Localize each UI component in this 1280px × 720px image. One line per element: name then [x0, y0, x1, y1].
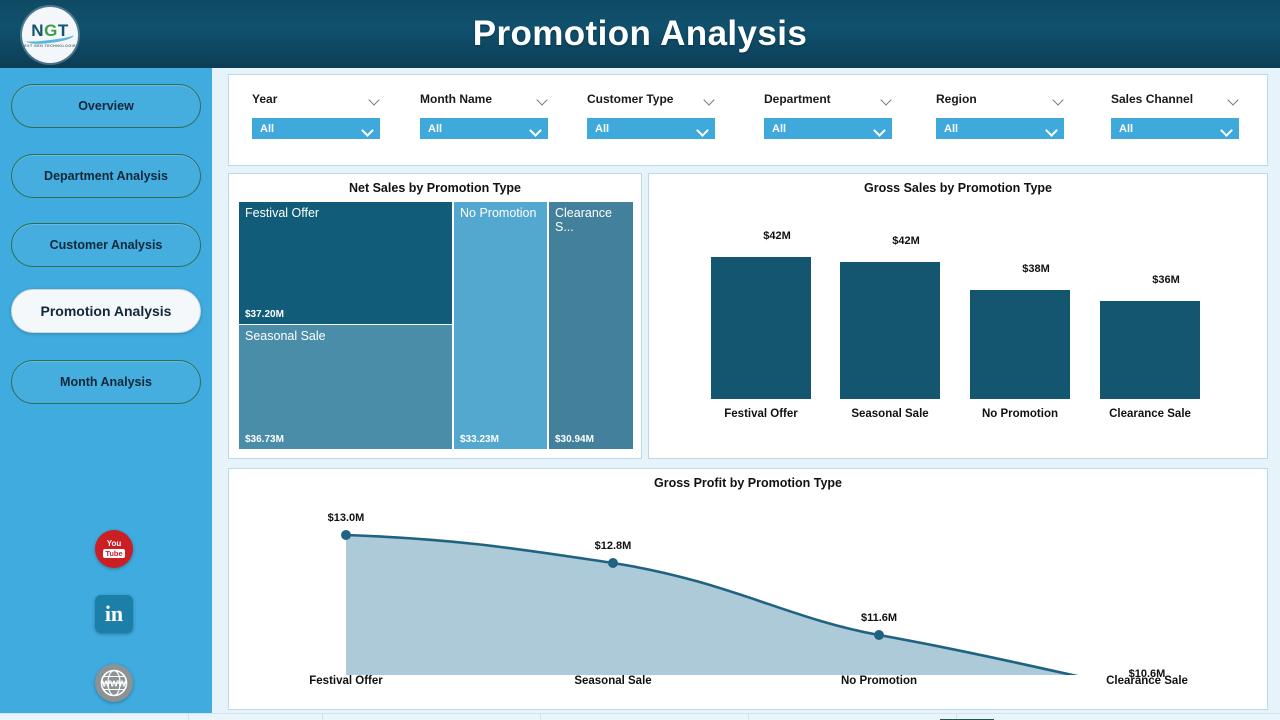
gross-sales-bar-card: Gross Sales by Promotion Type $42M $42M … [648, 173, 1268, 459]
area-category-label: Festival Offer [271, 675, 421, 687]
sidebar-item-overview[interactable]: Overview [11, 84, 201, 128]
treemap-tile-label: Seasonal Sale [245, 329, 326, 343]
sidebar: Overview Department Analysis Customer An… [0, 68, 212, 713]
slicer-department-header: Department [764, 89, 892, 109]
slicer-department[interactable]: Department All [764, 89, 892, 139]
sidebar-item-month-analysis[interactable]: Month Analysis [11, 360, 201, 404]
slicer-sales-channel-header: Sales Channel [1111, 89, 1239, 109]
tab-separator [748, 714, 749, 720]
chevron-down-icon[interactable] [1053, 96, 1064, 102]
bar-value-label: $42M [831, 235, 981, 247]
treemap-tile-value: $36.73M [245, 434, 284, 445]
slicer-year-dropdown[interactable]: All [252, 118, 380, 139]
chevron-down-icon [362, 126, 373, 132]
tab-separator [540, 714, 541, 720]
page-title: Promotion Analysis [0, 0, 1280, 68]
sidebar-item-department-analysis[interactable]: Department Analysis [11, 154, 201, 198]
bar-seasonal-sale[interactable] [840, 262, 940, 399]
slicer-department-dropdown[interactable]: All [764, 118, 892, 139]
slicer-month-name[interactable]: Month Name All [420, 89, 548, 139]
area-point-seasonal-sale[interactable] [608, 558, 618, 568]
website-globe-icon[interactable]: WWW [95, 664, 133, 702]
bar-clearance-sale[interactable] [1100, 301, 1200, 399]
treemap-tile-no-promotion[interactable]: No Promotion $33.23M [454, 202, 547, 449]
area-fill [346, 535, 1147, 675]
slicer-region-header: Region [936, 89, 1064, 109]
slicer-year-value: All [260, 123, 274, 135]
slicer-sales-channel[interactable]: Sales Channel All [1111, 89, 1239, 139]
slicer-region-value: All [944, 123, 958, 135]
bar-category-label: Seasonal Sale [815, 408, 965, 420]
slicer-month-name-value: All [428, 123, 442, 135]
treemap-plot: Festival Offer $37.20M Seasonal Sale $36… [239, 202, 633, 449]
tab-separator [188, 714, 189, 720]
treemap-tile-clearance-sale[interactable]: Clearance S... $30.94M [549, 202, 633, 449]
slicer-region-label: Region [936, 92, 977, 106]
dashboard-page: NGT NEXT GEN TECHNOLOGIES Promotion Anal… [0, 0, 1280, 720]
area-point-no-promotion[interactable] [874, 630, 884, 640]
youtube-icon-line1: You [107, 540, 122, 548]
chevron-down-icon [1221, 126, 1232, 132]
gross-profit-area-card: Gross Profit by Promotion Type $13.0M $1… [228, 468, 1268, 710]
area-category-label: No Promotion [804, 675, 954, 687]
bar-value-label: $36M [1091, 274, 1241, 286]
slicer-panel: Year All Month Name All Customer Type [228, 74, 1268, 166]
slicer-region[interactable]: Region All [936, 89, 1064, 139]
linkedin-icon[interactable]: in [95, 595, 133, 633]
treemap-tile-label: Festival Offer [245, 206, 319, 220]
bar-value-label: $38M [961, 263, 1111, 275]
chevron-down-icon[interactable] [1228, 96, 1239, 102]
slicer-customer-type-dropdown[interactable]: All [587, 118, 715, 139]
slicer-sales-channel-label: Sales Channel [1111, 92, 1193, 106]
bar-category-label: Clearance Sale [1075, 408, 1225, 420]
slicer-month-name-label: Month Name [420, 92, 492, 106]
treemap-tile-label: Clearance S... [555, 206, 633, 234]
treemap-tile-seasonal-sale[interactable]: Seasonal Sale $36.73M [239, 325, 452, 449]
logo-tagline: NEXT GEN TECHNOLOGIES [22, 44, 78, 48]
chevron-down-icon[interactable] [537, 96, 548, 102]
slicer-customer-type[interactable]: Customer Type All [587, 89, 715, 139]
sidebar-item-promotion-analysis[interactable]: Promotion Analysis [11, 289, 201, 333]
area-category-label: Seasonal Sale [538, 675, 688, 687]
bar-category-label: Festival Offer [686, 408, 836, 420]
area-value-label: $12.8M [538, 540, 688, 552]
youtube-icon-line2: Tube [103, 549, 124, 558]
sidebar-item-label: Customer Analysis [50, 238, 163, 252]
slicer-department-value: All [772, 123, 786, 135]
gross-sales-bar-title: Gross Sales by Promotion Type [649, 174, 1267, 195]
linkedin-icon-label: in [105, 601, 123, 627]
area-value-label: $13.0M [271, 512, 421, 524]
chevron-down-icon [697, 126, 708, 132]
logo-text: NGT [31, 22, 68, 39]
sidebar-item-label: Department Analysis [44, 169, 168, 183]
slicer-month-name-header: Month Name [420, 89, 548, 109]
treemap-tile-value: $37.20M [245, 309, 284, 320]
treemap-tile-value: $33.23M [460, 434, 499, 445]
chevron-down-icon[interactable] [369, 96, 380, 102]
globe-icon-glyph: WWW [99, 668, 129, 698]
sidebar-item-customer-analysis[interactable]: Customer Analysis [11, 223, 201, 267]
area-category-label: Clearance Sale [1072, 675, 1222, 687]
slicer-customer-type-value: All [595, 123, 609, 135]
svg-text:WWW: WWW [102, 679, 127, 689]
page-tab-strip[interactable] [0, 713, 1280, 720]
net-sales-treemap-title: Net Sales by Promotion Type [229, 174, 641, 195]
bar-plot-area: $42M $42M $38M $36M [649, 204, 1269, 399]
sidebar-item-label: Month Analysis [60, 375, 152, 389]
slicer-year[interactable]: Year All [252, 89, 380, 139]
bar-value-label: $42M [702, 230, 852, 242]
slicer-customer-type-label: Customer Type [587, 92, 673, 106]
slicer-sales-channel-value: All [1119, 123, 1133, 135]
slicer-sales-channel-dropdown[interactable]: All [1111, 118, 1239, 139]
youtube-icon[interactable]: You Tube [95, 530, 133, 568]
chevron-down-icon[interactable] [704, 96, 715, 102]
bar-no-promotion[interactable] [970, 290, 1070, 399]
treemap-tile-label: No Promotion [460, 206, 536, 220]
tab-separator [322, 714, 323, 720]
slicer-year-label: Year [252, 92, 277, 106]
area-point-festival-offer[interactable] [341, 530, 351, 540]
chevron-down-icon[interactable] [881, 96, 892, 102]
chevron-down-icon [874, 126, 885, 132]
slicer-year-header: Year [252, 89, 380, 109]
net-sales-treemap-card: Net Sales by Promotion Type Festival Off… [228, 173, 642, 459]
sidebar-item-label: Overview [78, 99, 134, 113]
chevron-down-icon [530, 126, 541, 132]
slicer-department-label: Department [764, 92, 831, 106]
gross-profit-area-title: Gross Profit by Promotion Type [229, 469, 1267, 490]
treemap-tile-festival-offer[interactable]: Festival Offer $37.20M [239, 202, 452, 324]
slicer-month-name-dropdown[interactable]: All [420, 118, 548, 139]
page-header: NGT NEXT GEN TECHNOLOGIES Promotion Anal… [0, 0, 1280, 68]
slicer-region-dropdown[interactable]: All [936, 118, 1064, 139]
bar-festival-offer[interactable] [711, 257, 811, 399]
chevron-down-icon [1046, 126, 1057, 132]
slicer-customer-type-header: Customer Type [587, 89, 715, 109]
treemap-tile-value: $30.94M [555, 434, 594, 445]
area-value-label: $11.6M [804, 612, 954, 624]
sidebar-item-label: Promotion Analysis [41, 303, 172, 319]
bar-category-label: No Promotion [945, 408, 1095, 420]
bar-plot: $42M $42M $38M $36M Festival Offer Seaso… [649, 204, 1269, 454]
